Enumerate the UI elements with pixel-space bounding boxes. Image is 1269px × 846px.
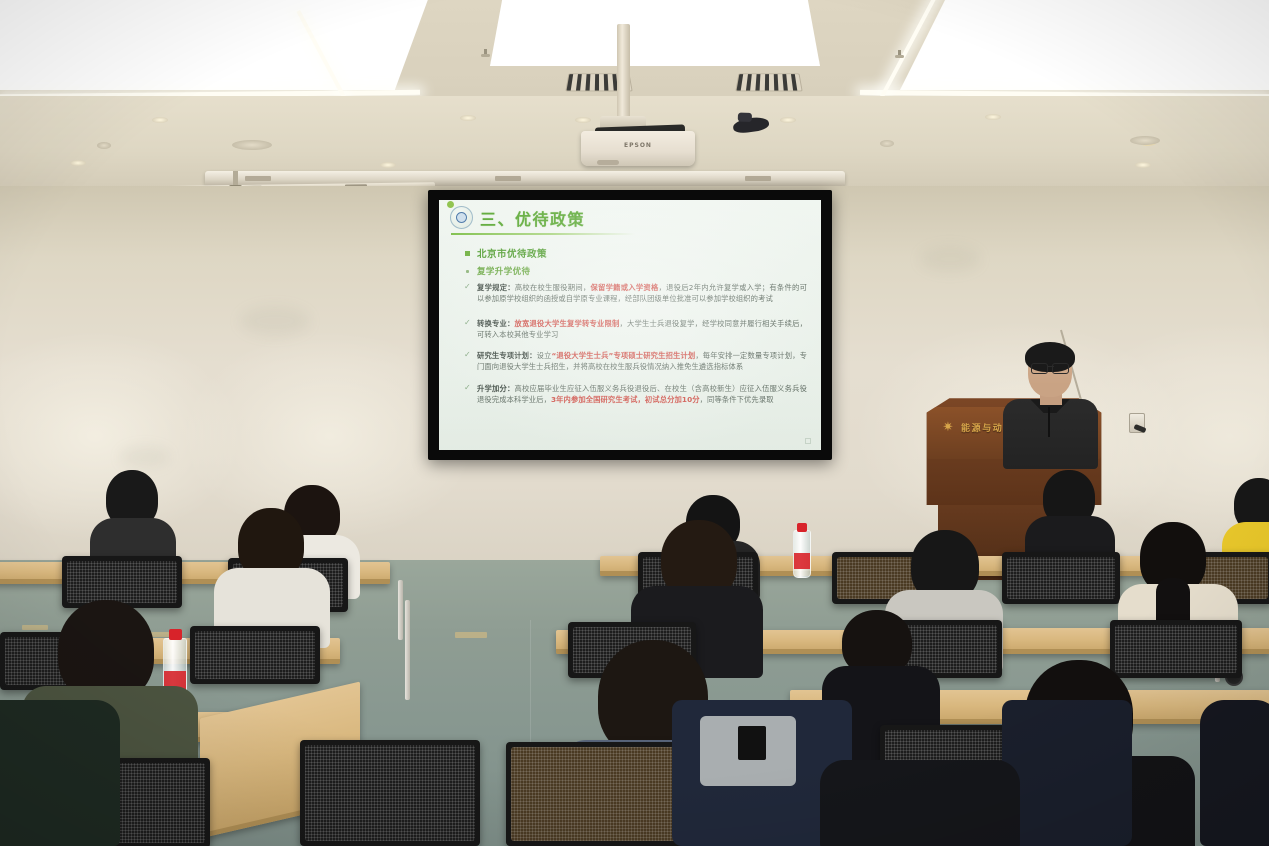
slide-item-3-label: 研究生专项计划： <box>477 351 537 360</box>
housing-bracket <box>245 176 271 181</box>
speaker-presenter <box>1000 345 1100 455</box>
slide-item-1-highlight: 保留学籍或入学资格 <box>590 283 658 292</box>
air-vent <box>735 74 802 92</box>
slide-item-3-pre: 设立 <box>537 351 552 360</box>
downlight-icon <box>460 115 476 121</box>
ceiling: EPSON <box>0 0 1269 186</box>
backpack <box>1002 700 1132 846</box>
school-logo-icon: ✷ <box>941 421 955 435</box>
bottle-cap <box>797 523 807 532</box>
housing-bracket <box>745 176 771 181</box>
slide-item-2-highlight: 放宽退役大学生复学转专业限制 <box>515 319 620 328</box>
bottle-label <box>794 553 810 569</box>
smoke-detector-icon <box>880 140 894 147</box>
housing-bracket <box>495 176 521 181</box>
chair[interactable] <box>1002 552 1120 604</box>
ceiling-light-panel <box>900 0 1269 90</box>
slide-item-2: 转换专业：放宽退役大学生复学转专业限制，大学生士兵退役复学，经学校同意并履行相关… <box>477 318 807 341</box>
university-emblem-icon <box>450 206 473 229</box>
dot-bullet-icon <box>466 270 469 273</box>
eyeglasses-icon <box>1031 363 1069 372</box>
chair[interactable] <box>300 740 480 846</box>
slide-item-1-pre: 高校在校生服役期间， <box>515 283 591 292</box>
ceiling-light-panel <box>0 0 430 90</box>
downlight-icon <box>152 117 168 123</box>
projector-lens <box>597 160 619 165</box>
person-torso <box>820 760 1020 846</box>
presentation-slide: 三、优待政策 北京市优待政策 复学升学优待 ✓ 复学规定：高校在校生服役期间，保… <box>439 200 821 450</box>
downlight-icon <box>1135 162 1151 168</box>
projector-brand-label: EPSON <box>581 142 695 149</box>
sprinkler-icon <box>895 50 904 59</box>
chair[interactable] <box>62 556 182 608</box>
slide-corner-mark <box>805 438 811 444</box>
smoke-detector-icon <box>97 142 111 149</box>
floor-marker <box>455 632 487 638</box>
check-icon: ✓ <box>464 282 471 291</box>
ceiling-light-panel <box>490 0 820 66</box>
projection-screen: 三、优待政策 北京市优待政策 复学升学优待 ✓ 复学规定：高校在校生服役期间，保… <box>428 190 832 460</box>
downlight-icon <box>70 160 86 166</box>
slide-item-1-label: 复学规定： <box>477 283 515 292</box>
slide-item-1: 复学规定：高校在校生服役期间，保留学籍或入学资格，退役后2年内允许复学或入学；有… <box>477 282 807 305</box>
speaker-shirt-placket <box>1048 407 1050 437</box>
downlight-icon <box>780 117 796 123</box>
slide-item-4-post: ，同等条件下优先录取 <box>700 395 774 404</box>
slide-item-3: 研究生专项计划：设立“退役大学生士兵”专项硕士研究生招生计划，每年安排一定数量专… <box>477 350 807 373</box>
downlight-icon <box>985 114 1001 120</box>
sprinkler-icon <box>481 49 490 58</box>
check-icon: ✓ <box>464 383 471 392</box>
chair[interactable] <box>1110 620 1242 678</box>
wall-mark <box>240 306 310 336</box>
slide-title: 三、优待政策 <box>480 206 585 230</box>
downlight-icon <box>575 117 591 123</box>
wall-device[interactable] <box>1129 413 1145 433</box>
smoke-detector-icon <box>1130 136 1160 145</box>
person-torso <box>0 700 120 846</box>
floor-marker <box>22 625 48 630</box>
slide-item-4-highlight: 3年内参加全国研究生考试，初试总分加10分 <box>551 395 700 404</box>
check-icon: ✓ <box>464 350 471 359</box>
square-bullet-icon <box>465 251 470 256</box>
desk-leg <box>405 600 410 700</box>
projector: EPSON <box>581 131 695 166</box>
slide-item-3-highlight: “退役大学生士兵”专项硕士研究生招生计划 <box>551 351 695 360</box>
projector-mount-pole <box>617 24 630 122</box>
lecture-hall-photo: EPSON 三、优待政策 北京 <box>0 0 1269 846</box>
slide-item-4: 升学加分：高校应届毕业生应征入伍服义务兵役退役后、在校生（含高校新生）应征入伍服… <box>477 383 807 406</box>
backpack-logo-tag <box>738 726 766 760</box>
slide-accent-dot <box>447 201 454 208</box>
downlight-icon <box>380 162 396 168</box>
check-icon: ✓ <box>464 318 471 327</box>
slide-item-4-label: 升学加分： <box>477 384 515 393</box>
chair[interactable] <box>190 626 320 684</box>
wall-mark <box>920 246 980 272</box>
water-bottle <box>793 530 811 578</box>
desk-leg <box>398 580 403 640</box>
slide-section-heading: 北京市优待政策 <box>477 246 547 260</box>
smoke-detector-icon <box>232 140 272 150</box>
bottle-cap <box>169 629 182 640</box>
title-underline <box>451 233 635 235</box>
wall-mark <box>120 446 170 468</box>
rail-hanger <box>233 171 238 187</box>
slide-subheading: 复学升学优待 <box>477 265 530 277</box>
chair[interactable] <box>506 742 686 846</box>
person-torso <box>1200 700 1269 846</box>
slide-item-2-label: 转换专业： <box>477 319 515 328</box>
